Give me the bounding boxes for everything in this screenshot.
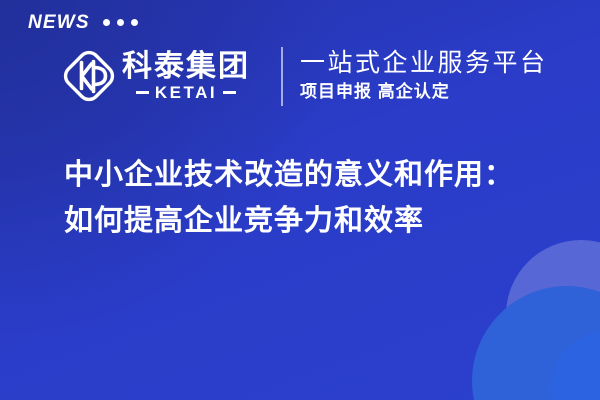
tagline-sub: 项目申报 高企认定 bbox=[300, 82, 548, 102]
page-title: 中小企业技术改造的意义和作用： 如何提高企业竞争力和效率 bbox=[64, 152, 564, 244]
brand-rule-left-icon bbox=[136, 91, 149, 94]
brand-names: 科泰集团 KETAI bbox=[122, 51, 250, 101]
brand-name-en: KETAI bbox=[155, 84, 217, 101]
brand-rule-right-icon bbox=[223, 91, 236, 94]
brand-name-cn: 科泰集团 bbox=[122, 51, 250, 83]
decorative-circle-lilac bbox=[506, 240, 600, 390]
page-title-line-2: 如何提高企业竞争力和效率 bbox=[64, 198, 564, 244]
news-banner: NEWS 科泰集团 KETAI bbox=[0, 0, 600, 400]
tagline-block: 一站式企业服务平台 项目申报 高企认定 bbox=[300, 44, 548, 108]
ketai-kd-monogram-icon bbox=[60, 47, 118, 105]
brand-lockup: 科泰集团 KETAI bbox=[60, 44, 250, 108]
eyebrow-label: NEWS bbox=[28, 13, 90, 32]
decorative-circle-bright-secondary bbox=[550, 330, 600, 400]
vertical-divider bbox=[281, 47, 283, 106]
brand-name-en-wrap: KETAI bbox=[122, 84, 250, 101]
eyebrow-dots-icon bbox=[103, 19, 138, 26]
decorative-circle-bright bbox=[472, 286, 600, 400]
eyebrow: NEWS bbox=[28, 13, 138, 32]
tagline-main: 一站式企业服务平台 bbox=[300, 49, 548, 78]
page-title-line-1: 中小企业技术改造的意义和作用： bbox=[64, 152, 564, 198]
